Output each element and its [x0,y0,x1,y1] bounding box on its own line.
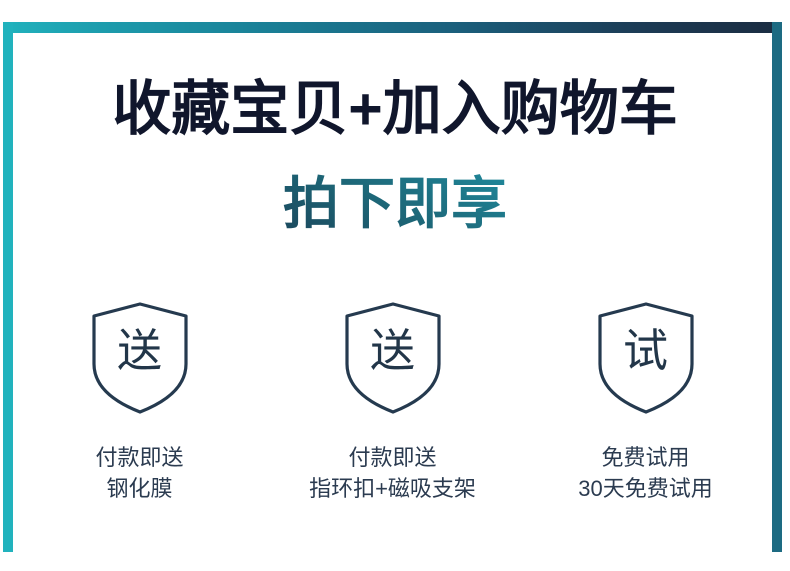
promo-banner: 收藏宝贝+加入购物车 拍下即享 送 付款即送 钢化膜 送 付 [0,0,790,571]
benefit-caption-line1: 付款即送 [95,442,183,473]
benefit-item: 送 付款即送 钢化膜 [20,300,260,504]
benefit-item: 送 付款即送 指环扣+磁吸支架 [273,300,513,504]
shield-icon: 送 [88,300,192,416]
benefit-caption-line2: 30天免费试用 [578,473,712,504]
benefit-caption-line1: 付款即送 [309,442,476,473]
shield-icon: 送 [341,300,445,416]
page-subtitle: 拍下即享 [0,172,790,236]
benefit-caption: 免费试用 30天免费试用 [578,442,712,504]
benefit-caption-line2: 钢化膜 [95,473,183,504]
page-title: 收藏宝贝+加入购物车 [0,76,790,142]
shield-badge-text: 送 [88,300,192,416]
frame-top-border [3,22,782,33]
benefit-item: 试 免费试用 30天免费试用 [526,300,766,504]
benefit-caption: 付款即送 指环扣+磁吸支架 [309,442,476,504]
benefits-list: 送 付款即送 钢化膜 送 付款即送 指环扣+磁吸支架 [13,300,772,504]
benefit-caption: 付款即送 钢化膜 [95,442,183,504]
shield-badge-text: 送 [341,300,445,416]
benefit-caption-line1: 免费试用 [578,442,712,473]
shield-icon: 试 [594,300,698,416]
shield-badge-text: 试 [594,300,698,416]
benefit-caption-line2: 指环扣+磁吸支架 [309,473,476,504]
